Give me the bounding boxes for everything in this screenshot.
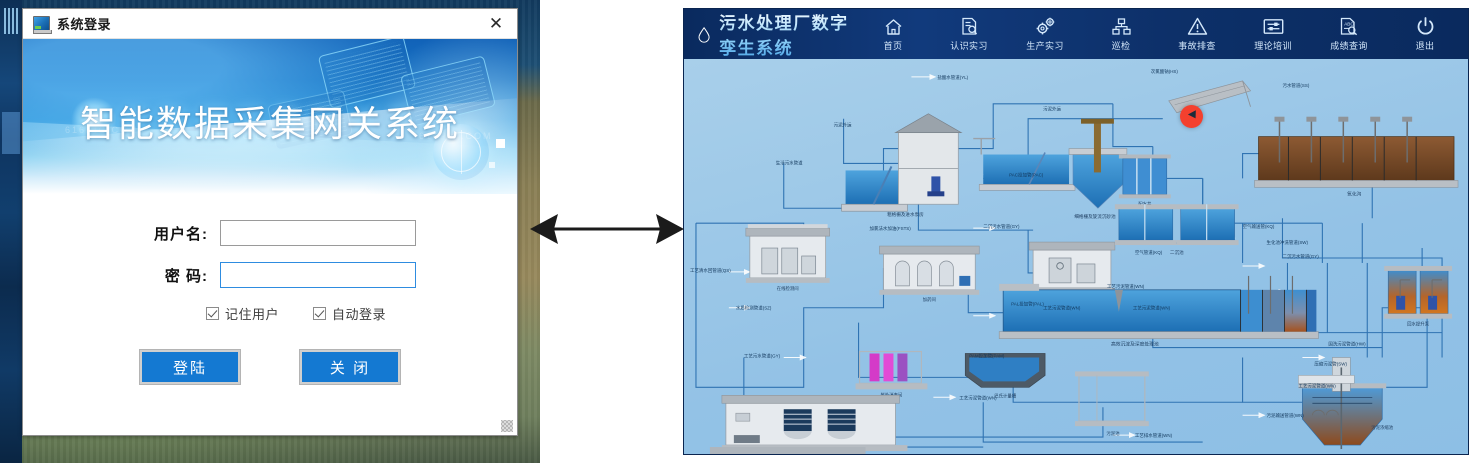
home-icon — [884, 16, 903, 37]
svg-text:压缩污泥管(SW): 压缩污泥管(SW) — [1314, 360, 1347, 367]
unit-intake-coarse-screen: 进水粗格栅 — [710, 447, 866, 454]
process-flow-diagram[interactable]: 粗格栅及进水泵房 细格栅及旋流沉砂池 — [684, 59, 1468, 454]
nav-item-theory-training[interactable]: 理论培训 — [1244, 16, 1302, 52]
svg-text:工艺排水管道(WN): 工艺排水管道(WN) — [1135, 432, 1173, 439]
svg-text:污泥池: 污泥池 — [1106, 430, 1120, 437]
banner-headline: 智能数据采集网关系统 — [80, 95, 460, 147]
svg-text:生活污水管道: 生活污水管道 — [776, 159, 803, 166]
nav-label: 事故排查 — [1178, 39, 1216, 52]
screen-root: 系统登录 ✕ 616PIC.COM 616PIC.COM 616PIC.COM … — [0, 0, 1473, 463]
auto-login-checkbox-group[interactable]: 自动登录 — [313, 304, 386, 323]
svg-text:工艺清水回管道(QS): 工艺清水回管道(QS) — [690, 267, 731, 274]
banner-square-accent-2 — [489, 162, 495, 168]
svg-text:工艺污泥管道(WN): 工艺污泥管道(WN) — [1133, 305, 1171, 312]
svg-text:PAM投加管(PAM): PAM投加管(PAM) — [969, 352, 1005, 359]
nav-label: 首页 — [884, 39, 903, 52]
nav-item-home[interactable]: 首页 — [864, 16, 922, 52]
gears-icon — [1035, 16, 1056, 37]
nav-label: 生产实习 — [1026, 39, 1064, 52]
nav-item-production-practice[interactable]: 生产实习 — [1016, 16, 1074, 52]
unit-oxidation-ditch: 氧化沟 — [1255, 117, 1458, 198]
svg-text:工艺污泥管道(WN): 工艺污泥管道(WN) — [1298, 382, 1336, 389]
unit-coarse-screen-pump-house: 粗格栅及进水泵房 — [842, 114, 962, 218]
nav-item-score-query[interactable]: ABC 成绩查询 — [1320, 16, 1378, 52]
report-search-icon: ABC — [1339, 16, 1359, 37]
username-input[interactable] — [220, 220, 416, 246]
svg-text:高效沉淀及深度处理池: 高效沉淀及深度处理池 — [1111, 341, 1159, 348]
document-search-icon — [960, 16, 979, 37]
nav-item-cognitive-practice[interactable]: 认识实习 — [940, 16, 998, 52]
username-label: 用户名: — [124, 223, 220, 244]
close-icon[interactable]: ✕ — [479, 10, 513, 38]
svg-text:ABC: ABC — [1344, 22, 1354, 27]
svg-text:巴氏计量槽: 巴氏计量槽 — [994, 392, 1017, 399]
double-headed-arrow-icon — [528, 205, 686, 253]
svg-text:粗格栅及进水泵房: 粗格栅及进水泵房 — [887, 211, 924, 218]
svg-text:回水提升泵: 回水提升泵 — [1407, 321, 1430, 328]
auto-login-checkbox[interactable] — [313, 307, 326, 320]
nav-label: 巡检 — [1112, 39, 1131, 52]
auto-login-label: 自动登录 — [332, 304, 386, 323]
monitor-icon — [33, 16, 50, 31]
banner-square-accent-1 — [496, 139, 505, 148]
svg-text:污水管道(SS): 污水管道(SS) — [1282, 82, 1309, 89]
unit-sludge-thickener: 污泥浓缩池 — [1298, 357, 1393, 449]
warning-triangle-icon — [1187, 16, 1208, 37]
svg-text:氧化沟: 氧化沟 — [1347, 190, 1362, 197]
login-button[interactable]: 登陆 — [140, 350, 240, 384]
power-icon — [1416, 16, 1435, 37]
username-row: 用户名: — [23, 220, 517, 246]
svg-text:工艺污水管道(GY): 工艺污水管道(GY) — [744, 352, 781, 359]
svg-text:空气输送管(KQ): 空气输送管(KQ) — [1243, 223, 1275, 230]
unit-parshall-flume: 巴氏计量槽 — [965, 354, 1045, 400]
sitemap-icon — [1112, 16, 1131, 37]
svg-text:二沉污水管道(GY): 二沉污水管道(GY) — [1282, 253, 1319, 260]
remember-user-checkbox-group[interactable]: 记住用户 — [206, 304, 279, 323]
login-window: 系统登录 ✕ 616PIC.COM 616PIC.COM 616PIC.COM … — [22, 8, 518, 436]
unit-secondary-clarifier: 二沉池 — [1115, 204, 1239, 256]
close-button[interactable]: 关 闭 — [300, 350, 400, 384]
resize-grip-icon[interactable] — [501, 420, 513, 432]
svg-text:PAL投加管(PAL): PAL投加管(PAL) — [1011, 301, 1044, 308]
svg-text:PAC投加管(PAC): PAC投加管(PAC) — [1009, 171, 1044, 178]
unit-sludge-sump: 污泥池 — [1075, 371, 1149, 437]
svg-text:污泥外运: 污泥外运 — [1043, 106, 1061, 113]
red-cursor-highlight — [1180, 105, 1203, 128]
password-row: 密 码: — [23, 262, 517, 288]
remember-user-checkbox[interactable] — [206, 307, 219, 320]
unit-online-monitoring-room: 在线检测间 — [746, 224, 830, 292]
svg-text:工艺污泥管道(WN): 工艺污泥管道(WN) — [1107, 283, 1145, 290]
nav-label: 理论培训 — [1254, 39, 1292, 52]
svg-text:盐酸水管道(YL): 盐酸水管道(YL) — [937, 74, 968, 81]
water-drop-icon — [698, 24, 710, 45]
svg-text:污泥浓缩池: 污泥浓缩池 — [1371, 424, 1394, 431]
svg-text:在线检测间: 在线检测间 — [777, 285, 799, 292]
nav-label: 认识实习 — [950, 39, 988, 52]
password-input[interactable] — [220, 262, 416, 288]
brand: 污水处理厂数字孪生系统 — [698, 9, 864, 59]
svg-text:污泥外运: 污泥外运 — [834, 122, 852, 129]
svg-text:二沉污水管道(GY): 二沉污水管道(GY) — [983, 223, 1020, 230]
unit-dosing-room: 加药间 — [880, 246, 980, 303]
svg-text:工艺污泥管道(WN): 工艺污泥管道(WN) — [959, 394, 997, 401]
remember-user-label: 记住用户 — [225, 304, 279, 323]
svg-text:二沉池: 二沉池 — [1170, 249, 1184, 256]
password-label: 密 码: — [124, 265, 220, 286]
unit-uv-disinfection-room: 紫外消毒间 — [856, 352, 928, 399]
svg-text:工艺污泥管道(WN): 工艺污泥管道(WN) — [1043, 305, 1081, 312]
svg-text:水质检测管道(SZ): 水质检测管道(SZ) — [736, 305, 772, 312]
svg-text:加氯法水加油(FSTS): 加氯法水加油(FSTS) — [870, 225, 912, 232]
taskbar-strip[interactable] — [0, 0, 22, 463]
svg-text:加药间: 加药间 — [923, 296, 936, 303]
login-form: 用户名: 密 码: 记住用户 自动登录 登陆 关 闭 — [23, 194, 517, 435]
login-button-row: 登陆 关 闭 — [23, 350, 517, 384]
login-banner: 616PIC.COM 616PIC.COM 616PIC.COM 智能数据采集网… — [23, 39, 517, 194]
digital-twin-window: 污水处理厂数字孪生系统 首页 — [683, 8, 1469, 455]
slides-icon — [1263, 16, 1284, 37]
nav-label: 成绩查询 — [1330, 39, 1368, 52]
login-titlebar[interactable]: 系统登录 ✕ — [23, 9, 517, 39]
svg-text:次氯酸钠(HS): 次氯酸钠(HS) — [1151, 68, 1179, 75]
twin-header: 污水处理厂数字孪生系统 首页 — [684, 9, 1468, 59]
brand-title: 污水处理厂数字孪生系统 — [719, 9, 864, 59]
unit-dewatering-house: 脱水机房 — [722, 395, 908, 454]
svg-text:污泥输送管道(WN): 污泥输送管道(WN) — [1267, 412, 1305, 419]
svg-text:生化池冲洗管道(SW): 生化池冲洗管道(SW) — [1267, 239, 1309, 246]
svg-text:细格栅及旋流沉砂池: 细格栅及旋流沉砂池 — [1074, 213, 1116, 220]
unit-inclined-screen — [1169, 81, 1251, 113]
nav-item-exit[interactable]: 退出 — [1396, 16, 1454, 52]
options-row: 记住用户 自动登录 — [75, 304, 517, 323]
flow-diagram-canvas: 粗格栅及进水泵房 细格栅及旋流沉砂池 — [684, 59, 1468, 454]
nav-item-inspection[interactable]: 巡检 — [1092, 16, 1150, 52]
unit-return-pump-station: 回水提升泵 — [1384, 266, 1452, 328]
top-nav: 首页 认识实习 — [864, 16, 1462, 52]
window-title: 系统登录 — [57, 14, 111, 33]
unit-distribution-well: 配水井 — [1119, 155, 1171, 208]
svg-text:国洗污泥管道(HW): 国洗污泥管道(HW) — [1328, 341, 1366, 348]
nav-item-accident-investigation[interactable]: 事故排查 — [1168, 16, 1226, 52]
unit-fine-screen-grit-chamber: 细格栅及旋流沉砂池 — [973, 119, 1127, 220]
svg-text:空气管道(KQ): 空气管道(KQ) — [1135, 249, 1163, 256]
nav-label: 退出 — [1416, 39, 1435, 52]
